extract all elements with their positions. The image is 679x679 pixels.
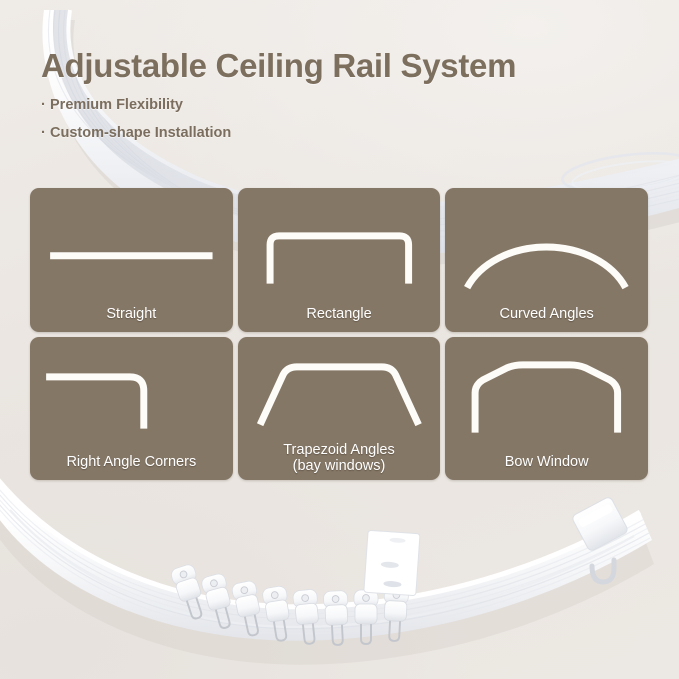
feature-bullet-0: ·Premium Flexibility bbox=[41, 98, 641, 113]
page-title: Adjustable Ceiling Rail System bbox=[41, 48, 641, 84]
shape-card-label: Trapezoid Angles (bay windows) bbox=[238, 442, 441, 475]
shape-card-bow-window: Bow Window bbox=[445, 337, 648, 481]
shape-card-label: Straight bbox=[30, 306, 233, 323]
shape-card-rectangle: Rectangle bbox=[238, 188, 441, 332]
feature-bullet-text: Custom-shape Installation bbox=[50, 125, 231, 141]
bullet-marker-icon: · bbox=[41, 98, 50, 113]
shape-card-label: Bow Window bbox=[445, 454, 648, 471]
shape-card-curved-angles: Curved Angles bbox=[445, 188, 648, 332]
feature-bullet-1: ·Custom-shape Installation bbox=[41, 126, 641, 141]
shape-card-label: Rectangle bbox=[238, 306, 441, 323]
feature-bullet-text: Premium Flexibility bbox=[50, 97, 183, 113]
header-block: Adjustable Ceiling Rail System ·Premium … bbox=[41, 48, 641, 153]
feature-bullet-list: ·Premium Flexibility ·Custom-shape Insta… bbox=[41, 98, 641, 140]
shape-option-grid: Straight Rectangle Curved Angles Right A… bbox=[30, 188, 648, 480]
shape-card-label: Curved Angles bbox=[445, 306, 648, 323]
shape-card-label: Right Angle Corners bbox=[30, 454, 233, 471]
product-infographic: Adjustable Ceiling Rail System ·Premium … bbox=[0, 0, 679, 679]
bullet-marker-icon: · bbox=[41, 126, 50, 141]
shape-card-straight: Straight bbox=[30, 188, 233, 332]
shape-card-trapezoid-angles: Trapezoid Angles (bay windows) bbox=[238, 337, 441, 481]
shape-card-right-angle-corners: Right Angle Corners bbox=[30, 337, 233, 481]
